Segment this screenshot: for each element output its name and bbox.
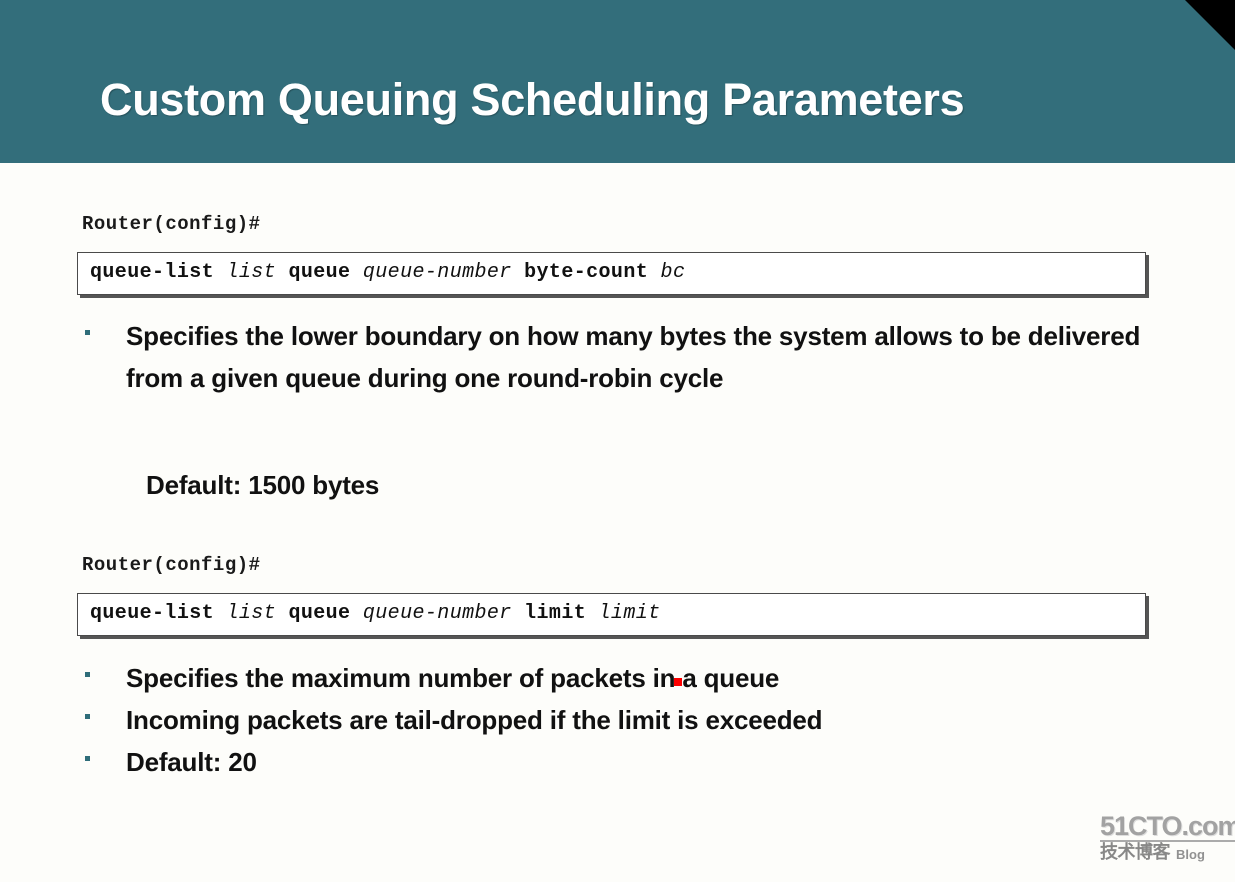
watermark-subtitle-row: 技术博客 Blog xyxy=(1100,843,1228,863)
command-box-byte-count: queue-list list queue queue-number byte-… xyxy=(77,252,1146,295)
router-prompt-1: Router(config)# xyxy=(82,213,261,235)
bullet-item: Incoming packets are tail-dropped if the… xyxy=(85,699,1145,741)
command-token-keyword: queue-list xyxy=(90,602,214,625)
command-token-arg: queue-number xyxy=(363,602,512,625)
bullet-dot-icon xyxy=(85,330,90,335)
command-token-keyword: byte-count xyxy=(524,261,648,284)
bullet-dot-icon xyxy=(85,756,90,761)
bullet-text: Specifies the maximum number of packets … xyxy=(126,657,779,699)
command-token-arg: bc xyxy=(661,261,686,284)
bullet-text: Default: 20 xyxy=(126,741,257,783)
bullet-dot-icon xyxy=(85,672,90,677)
command-token-arg: limit xyxy=(599,602,661,625)
slide-header: Custom Queuing Scheduling Parameters xyxy=(0,0,1235,163)
watermark: 51CTO.com 技术博客 Blog xyxy=(1100,812,1228,866)
command-text-byte-count: queue-list list queue queue-number byte-… xyxy=(90,261,685,284)
corner-triangle-decoration xyxy=(1185,0,1235,50)
command-token-keyword: limit xyxy=(524,602,586,625)
command-token-arg: list xyxy=(226,602,276,625)
watermark-chinese-text: 技术博客 xyxy=(1100,843,1170,863)
watermark-site-name: 51CTO.com xyxy=(1100,812,1235,842)
bullet-item: Specifies the maximum number of packets … xyxy=(85,657,1145,699)
sub-item-default-byte-count: Default: 1500 bytes xyxy=(146,470,379,501)
command-token-keyword: queue xyxy=(288,602,350,625)
bullet-dot-icon xyxy=(85,714,90,719)
command-token-arg: list xyxy=(226,261,276,284)
bullet-text: Incoming packets are tail-dropped if the… xyxy=(126,699,822,741)
page-title: Custom Queuing Scheduling Parameters xyxy=(100,74,964,126)
bullet-item: Specifies the lower boundary on how many… xyxy=(85,315,1145,399)
command-token-arg: queue-number xyxy=(363,261,512,284)
router-prompt-2: Router(config)# xyxy=(82,554,261,576)
command-text-limit: queue-list list queue queue-number limit… xyxy=(90,602,661,625)
command-token-keyword: queue-list xyxy=(90,261,214,284)
command-token-keyword: queue xyxy=(288,261,350,284)
command-box-limit: queue-list list queue queue-number limit… xyxy=(77,593,1146,636)
bullet-text: Specifies the lower boundary on how many… xyxy=(126,315,1145,399)
bullet-item: Default: 20 xyxy=(85,741,1145,783)
slide-body: Router(config)# queue-list list queue qu… xyxy=(0,163,1235,882)
watermark-blog-label: Blog xyxy=(1176,847,1205,863)
